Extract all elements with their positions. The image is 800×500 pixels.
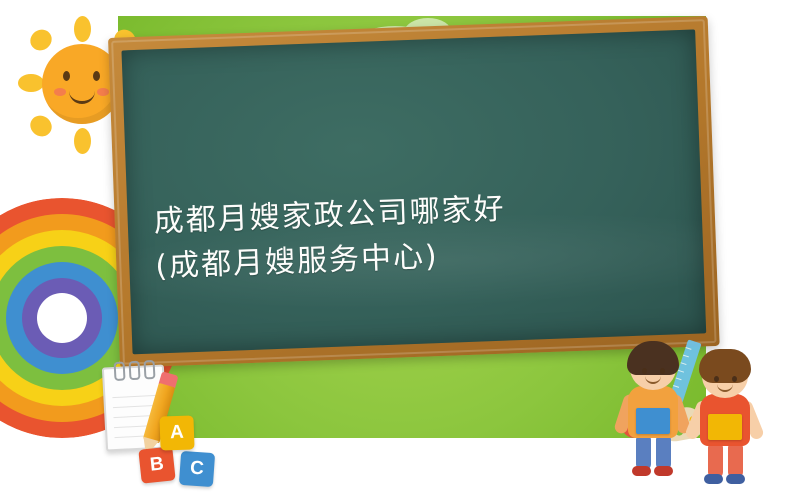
chalkboard-surface: 成都月嫂家政公司哪家好 (成都月嫂服务中心) [121, 29, 706, 354]
chalkboard: 成都月嫂家政公司哪家好 (成都月嫂服务中心) [108, 16, 720, 368]
alphabet-block: B [138, 446, 175, 483]
title-line-1: 成都月嫂家政公司哪家好 [153, 192, 506, 240]
alphabet-block: C [179, 451, 215, 487]
alphabet-block: A [159, 415, 194, 450]
children-illustration [612, 332, 792, 482]
frame-top-strip [0, 0, 800, 16]
image-canvas: 成都月嫂家政公司哪家好 (成都月嫂服务中心) B C A [0, 0, 800, 500]
child-right [690, 354, 760, 482]
child-left [618, 346, 688, 474]
